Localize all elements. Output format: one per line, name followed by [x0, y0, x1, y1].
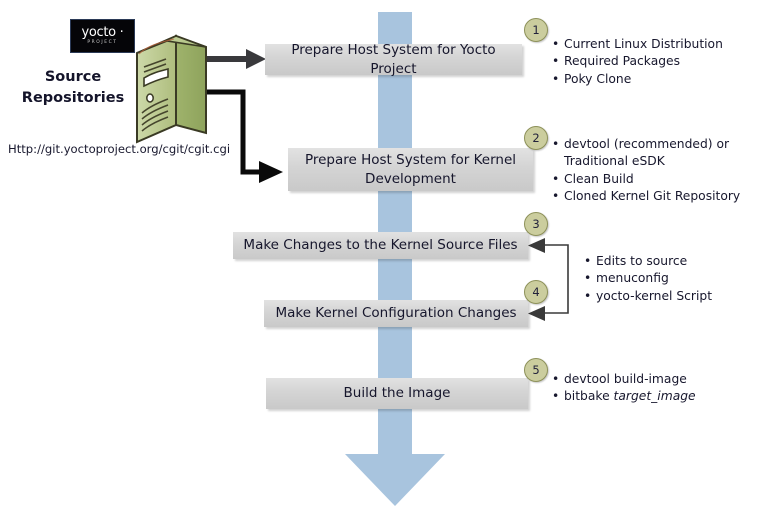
notes-step-5: devtool build-image bitbake target_image [552, 371, 696, 406]
flow-arrowhead-icon [345, 454, 445, 506]
notes-step-2-list: devtool (recommended) or Traditional eSD… [552, 136, 740, 206]
process-box-make-config-changes[interactable]: Make Kernel Configuration Changes [264, 300, 528, 327]
notes-steps-3-4-list: Edits to source menuconfig yocto-kernel … [584, 253, 712, 305]
kernel-development-workflow-diagram: yocto · PROJECT Source Repositories Http… [0, 0, 769, 517]
list-item: Current Linux Distribution [552, 36, 723, 53]
notes-step-5-list: devtool build-image bitbake target_image [552, 371, 696, 406]
notes-step-1-list: Current Linux Distribution Required Pack… [552, 36, 723, 88]
step-circle-4: 4 [524, 280, 548, 304]
step-circle-5: 5 [524, 358, 548, 382]
notes-steps-3-and-4: Edits to source menuconfig yocto-kernel … [584, 253, 712, 305]
step-circle-3: 3 [524, 212, 548, 236]
server-tower-icon [134, 33, 210, 145]
list-item: Edits to source [584, 253, 712, 270]
process-box-prepare-host-yocto[interactable]: Prepare Host System for Yocto Project [265, 44, 522, 75]
list-item: menuconfig [584, 270, 712, 287]
list-item: Clean Build [552, 171, 740, 188]
step-circle-2: 2 [524, 126, 548, 150]
list-item: Cloned Kernel Git Repository [552, 188, 740, 205]
yocto-project-logo: yocto · PROJECT [70, 19, 135, 53]
list-item: devtool build-image [552, 371, 696, 388]
yocto-logo-wordmark: yocto · [81, 26, 123, 39]
note-text-italic: target_image [614, 389, 696, 403]
list-item: Poky Clone [552, 71, 723, 88]
process-box-build-image[interactable]: Build the Image [266, 378, 528, 409]
list-item: Required Packages [552, 53, 723, 70]
process-box-prepare-host-kernel[interactable]: Prepare Host System for Kernel Developme… [288, 148, 533, 191]
list-item: yocto-kernel Script [584, 288, 712, 305]
list-item: bitbake target_image [552, 388, 696, 405]
source-repositories-label: Source Repositories [10, 67, 136, 109]
process-box-make-source-changes[interactable]: Make Changes to the Kernel Source Files [233, 232, 528, 259]
note-text: bitbake [564, 389, 614, 403]
note-text: devtool build-image [564, 372, 687, 386]
list-item: devtool (recommended) or Traditional eSD… [552, 136, 740, 171]
notes-step-2: devtool (recommended) or Traditional eSD… [552, 136, 740, 206]
notes-step-1: Current Linux Distribution Required Pack… [552, 36, 723, 88]
yocto-logo-subtext: PROJECT [87, 41, 117, 45]
step-circle-1: 1 [524, 18, 548, 42]
